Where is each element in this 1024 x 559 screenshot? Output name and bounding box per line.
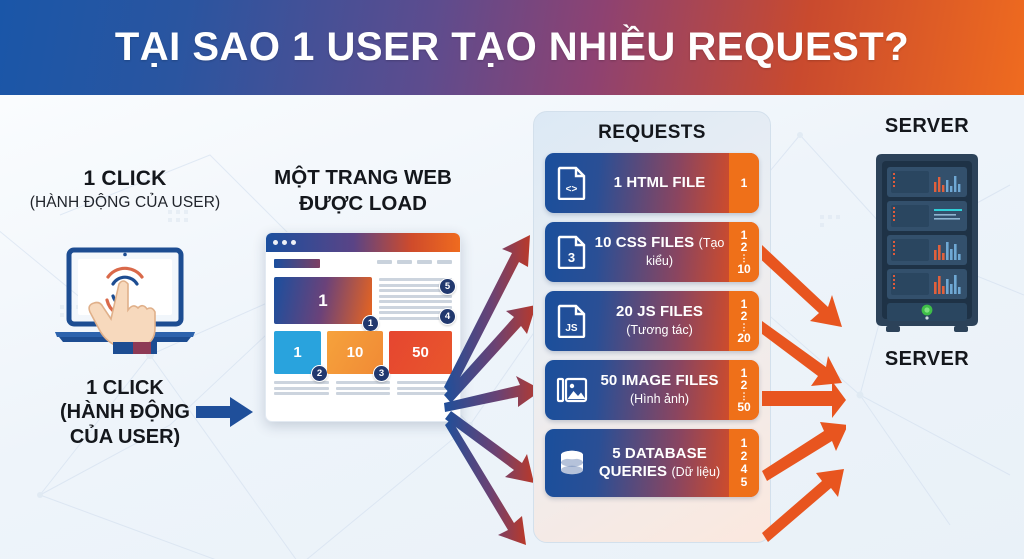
counter-value: 5 (741, 476, 748, 489)
request-label: 50 IMAGE FILES (600, 372, 718, 389)
request-row-database[interactable]: 5 DATABASE QUERIES (Dữ liệu) 1 2 4 5 (545, 429, 759, 497)
request-row-images[interactable]: 50 IMAGE FILES (Hình ảnh) 1 2 ⋮ 50 (545, 360, 759, 420)
arrows-web-to-requests (442, 235, 542, 545)
laptop-icon-wrapper (0, 244, 250, 356)
footer-col (336, 381, 391, 395)
request-label-line-2: QUERIES (599, 463, 667, 480)
nav-bar-item (397, 260, 412, 264)
badge-1: 1 (362, 315, 379, 332)
html-file-icon: <> (550, 166, 594, 200)
request-text: 5 DATABASE QUERIES (Dữ liệu) (594, 445, 729, 481)
request-label: 1 HTML FILE (614, 174, 706, 191)
footer-col (274, 381, 329, 395)
request-row-html[interactable]: <> 1 HTML FILE 1 (545, 153, 759, 213)
click-heading: 1 CLICK (0, 167, 250, 191)
counter-value: 4 (741, 463, 748, 476)
webpage-title-line-1: MỘT TRANG WEB (248, 165, 478, 191)
request-sublabel: (Hình ảnh) (630, 392, 689, 406)
request-counter-css: 1 2 ⋮ 10 (729, 222, 759, 282)
nav-bar-item (377, 260, 392, 264)
tiles-row: 1 2 10 3 50 (274, 331, 452, 374)
webpage-title: MỘT TRANG WEB ĐƯỢC LOAD (248, 165, 478, 216)
text-line (274, 392, 329, 395)
page-title: TẠI SAO 1 USER TẠO NHIỀU REQUEST? (115, 25, 909, 70)
svg-text:<>: <> (566, 184, 578, 195)
nav-bar-item (417, 260, 432, 264)
request-label: 10 CSS FILES (595, 234, 695, 251)
requests-title: REQUESTS (545, 122, 759, 144)
request-label-line-1: 5 DATABASE (612, 445, 707, 462)
database-icon (550, 447, 594, 479)
hero-row: 1 1 (274, 277, 452, 324)
footer-text-rows (274, 381, 452, 395)
counter-value: 1 (741, 177, 748, 190)
window-dot-close (273, 240, 278, 245)
click-subheading: (HÀNH ĐỘNG CỦA USER) (0, 194, 250, 212)
server-section: SERVER (836, 115, 1018, 371)
text-line (336, 387, 391, 390)
js-file-icon: JS (550, 304, 594, 338)
badge-3: 3 (373, 365, 390, 382)
badge-2: 2 (311, 365, 328, 382)
browser-content: 1 1 1 (266, 252, 460, 401)
request-sublabel: (Dữ liệu) (672, 465, 721, 479)
request-sublabel: (Tương tác) (626, 323, 693, 337)
hero-value: 1 (318, 291, 327, 311)
svg-text:3: 3 (568, 250, 575, 265)
request-text: 50 IMAGE FILES (Hình ảnh) (594, 372, 729, 408)
request-counter-database: 1 2 4 5 (729, 429, 759, 497)
tile-images: 1 2 (274, 331, 321, 374)
browser-titlebar (266, 233, 460, 252)
tile-value: 1 (293, 344, 301, 361)
tile-value: 50 (412, 344, 429, 361)
infographic-canvas: 1 CLICK (HÀNH ĐỘNG CỦA USER) (0, 95, 1024, 559)
text-line (336, 392, 391, 395)
request-counter-images: 1 2 ⋮ 50 (729, 360, 759, 420)
browser-window-mockup: 1 1 1 (265, 232, 461, 422)
request-row-js[interactable]: JS 20 JS FILES (Tương tác) 1 2 ⋮ 20 (545, 291, 759, 351)
window-dot-minimize (282, 240, 287, 245)
tile-value: 10 (347, 344, 364, 361)
request-text: 20 JS FILES (Tương tác) (594, 303, 729, 339)
request-text: 10 CSS FILES (Tạo kiểu) (594, 234, 729, 270)
request-text: 1 HTML FILE (594, 174, 729, 192)
arrows-requests-to-server (762, 245, 846, 545)
request-counter-html: 1 (729, 153, 759, 213)
counter-value: 10 (737, 263, 750, 276)
window-dot-maximize (291, 240, 296, 245)
requests-panel: REQUESTS <> 1 HTML FILE 1 (533, 111, 771, 543)
webpage-title-line-2: ĐƯỢC LOAD (248, 191, 478, 217)
site-logo-bar (274, 259, 320, 268)
server-label-bottom: SERVER (836, 348, 1018, 371)
laptop-click-icon (45, 244, 205, 356)
text-line (274, 387, 329, 390)
site-nav-bars (377, 260, 452, 264)
css-file-icon: 3 (550, 235, 594, 269)
server-label-top: SERVER (836, 115, 1018, 138)
counter-value: 20 (737, 332, 750, 345)
arrow-click-to-web (196, 395, 254, 429)
tile-css: 10 3 (327, 331, 383, 374)
svg-text:JS: JS (565, 323, 578, 334)
server-rack-icon (868, 150, 986, 336)
request-counter-js: 1 2 ⋮ 20 (729, 291, 759, 351)
server-icon-wrapper (836, 150, 1018, 336)
header-banner: TẠI SAO 1 USER TẠO NHIỀU REQUEST? (0, 0, 1024, 95)
hero-block: 1 1 (274, 277, 372, 324)
request-row-css[interactable]: 3 10 CSS FILES (Tạo kiểu) 1 2 ⋮ 10 (545, 222, 759, 282)
image-file-icon (550, 375, 594, 405)
counter-value: 50 (737, 401, 750, 414)
request-label: 20 JS FILES (616, 303, 703, 320)
